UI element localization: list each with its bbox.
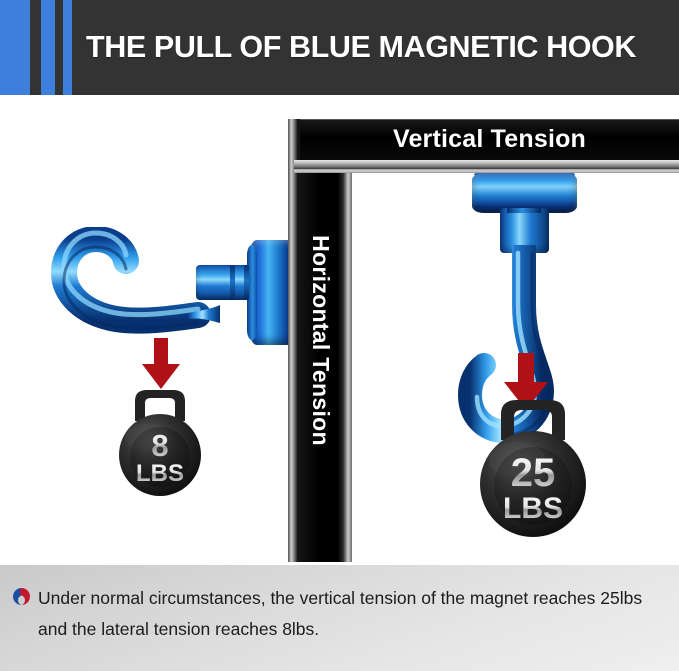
product-infographic: THE PULL OF BLUE MAGNETIC HOOK bbox=[0, 0, 679, 671]
magnet-poles-icon bbox=[12, 587, 31, 606]
caption-line-1: Under normal circumstances, the vertical… bbox=[38, 588, 465, 608]
weight-unit-left: LBS bbox=[136, 460, 184, 487]
vertical-magnet-disc bbox=[472, 173, 577, 213]
vertical-neck-ring bbox=[507, 208, 541, 213]
caption-text: Under normal circumstances, the vertical… bbox=[38, 583, 667, 645]
down-arrow-icon-left bbox=[141, 338, 181, 390]
accent-bar-narrow bbox=[63, 0, 72, 95]
weight-unit-right: LBS bbox=[503, 492, 563, 525]
vertical-tension-label: Vertical Tension bbox=[300, 119, 679, 160]
horizontal-tension-label-text: Horizontal Tension bbox=[307, 235, 334, 446]
weight-value-right: 25 bbox=[511, 451, 556, 495]
horizontal-shaft-ring-2 bbox=[244, 265, 249, 300]
horizontal-shaft-ring-1 bbox=[230, 265, 235, 300]
horizontal-tension-label: Horizontal Tension bbox=[288, 119, 352, 562]
weight-ball-left: 8 LBS bbox=[104, 387, 216, 499]
header-banner: THE PULL OF BLUE MAGNETIC HOOK bbox=[0, 0, 679, 95]
product-illustration: Vertical Tension Horizontal Tension bbox=[0, 95, 679, 565]
caption-band: Under normal circumstances, the vertical… bbox=[0, 565, 679, 671]
weight-value-left: 8 bbox=[151, 428, 168, 463]
page-title: THE PULL OF BLUE MAGNETIC HOOK bbox=[86, 0, 636, 95]
weight-ball-right: 25 LBS bbox=[461, 396, 605, 540]
accent-bar-medium bbox=[41, 0, 55, 95]
accent-bar-wide bbox=[0, 0, 30, 95]
horizontal-hook-graphic bbox=[20, 227, 220, 337]
